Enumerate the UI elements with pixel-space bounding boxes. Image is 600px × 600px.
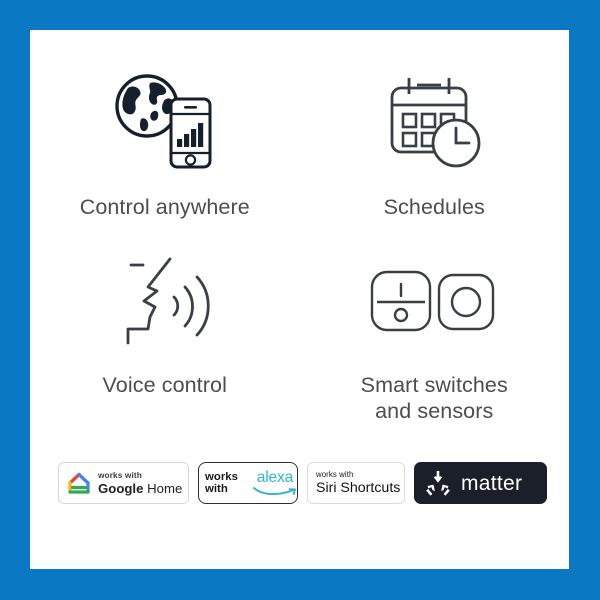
home-brand-regular: Home: [143, 481, 182, 496]
badge-matter[interactable]: matter: [414, 462, 547, 504]
calendar-clock-icon: [384, 68, 484, 178]
works-with-label: works with: [316, 471, 400, 479]
badge-works-with-siri-shortcuts[interactable]: works with Siri Shortcuts: [307, 462, 405, 504]
feature-label: Voice control: [103, 372, 227, 398]
feature-label-text: Control anywhere: [80, 195, 250, 219]
feature-smart-switches: Smart switches and sensors: [300, 246, 570, 424]
feature-label: Smart switches and sensors: [361, 372, 508, 424]
white-content-panel: Control anywhere: [30, 30, 569, 569]
alexa-logo: alexa: [252, 470, 298, 496]
feature-control-anywhere: Control anywhere: [30, 68, 300, 220]
feature-label: Schedules: [384, 194, 485, 220]
works-with-label: works with: [98, 471, 182, 479]
feature-label-text: Voice control: [103, 373, 227, 397]
feature-schedules: Schedules: [300, 68, 570, 220]
blue-frame: Control anywhere: [0, 0, 600, 600]
feature-label-text: Schedules: [384, 195, 485, 219]
badge-works-with-alexa[interactable]: works with alexa: [198, 462, 298, 504]
google-home-brand: Google Home: [98, 482, 182, 495]
globe-phone-icon: [112, 68, 218, 178]
google-brand-bold: Google: [98, 481, 143, 496]
feature-label-text: Smart switches: [361, 373, 508, 397]
works-line-2: with: [205, 483, 228, 495]
alexa-works-with-label: works with: [205, 471, 238, 496]
google-home-text: works with Google Home: [98, 471, 182, 495]
siri-brand-text: Siri Shortcuts: [316, 481, 400, 495]
compatibility-badges: works with Google Home works with alexa: [58, 458, 548, 508]
alexa-brand-text: alexa: [257, 470, 293, 486]
badge-works-with-google-home[interactable]: works with Google Home: [58, 462, 189, 504]
feature-label-text-line2: and sensors: [361, 398, 508, 424]
speaking-head-icon: [114, 246, 216, 356]
matter-arrows-icon: [424, 469, 452, 497]
feature-grid: Control anywhere: [30, 68, 569, 424]
matter-brand-text: matter: [461, 473, 522, 494]
alexa-smile-icon: [252, 486, 298, 496]
feature-label: Control anywhere: [80, 194, 250, 220]
switch-sensor-icon: [369, 246, 499, 356]
google-home-house-icon: [66, 471, 92, 496]
feature-voice-control: Voice control: [30, 246, 300, 424]
works-line-1: works: [205, 471, 238, 483]
siri-text: works with Siri Shortcuts: [316, 471, 400, 496]
